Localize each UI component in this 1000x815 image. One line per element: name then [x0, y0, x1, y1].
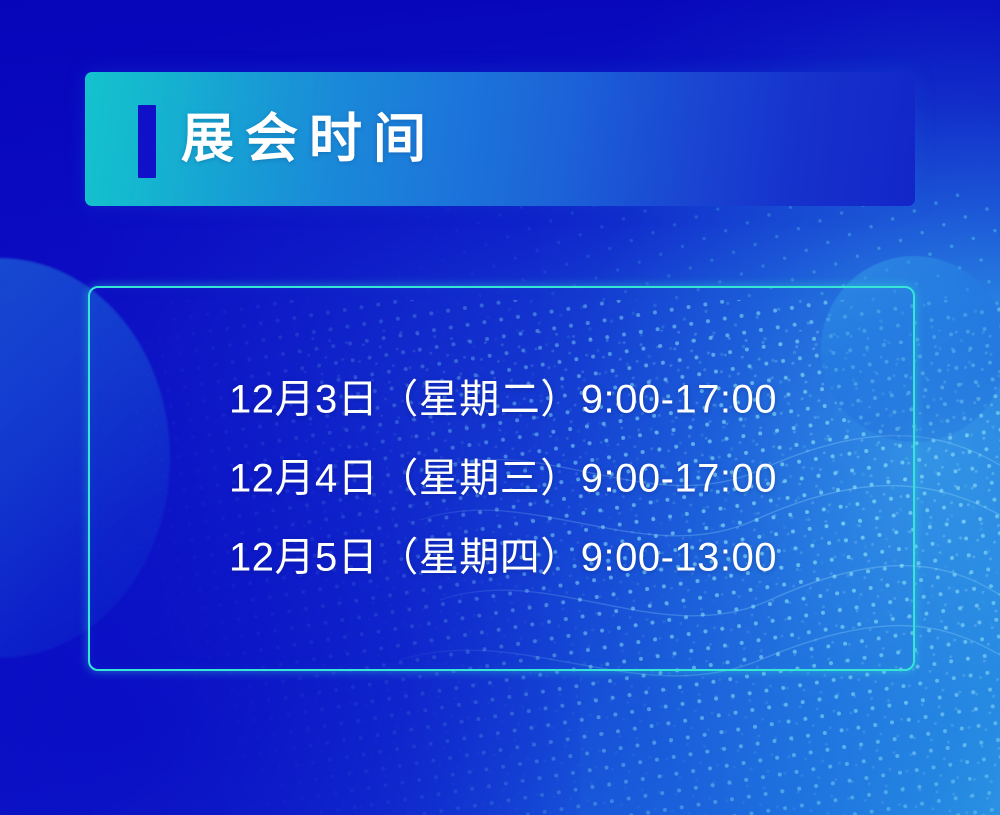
accent-bar-icon: [138, 105, 156, 178]
list-item: 12月3日（星期二）9:00-17:00: [229, 360, 789, 439]
schedule-list: 12月3日（星期二）9:00-17:00 12月4日（星期三）9:00-17:0…: [229, 360, 789, 597]
schedule-frame: 12月3日（星期二）9:00-17:00 12月4日（星期三）9:00-17:0…: [88, 286, 915, 671]
list-item: 12月4日（星期三）9:00-17:00: [229, 439, 789, 518]
page-title: 展会时间: [181, 113, 437, 166]
header-banner: 展会时间: [85, 72, 915, 206]
list-item: 12月5日（星期四）9:00-13:00: [229, 518, 789, 597]
poster-canvas: 展会时间 12月3日（星期二）9:00-17:00 12月4日（星期三）9:00…: [0, 0, 1000, 815]
